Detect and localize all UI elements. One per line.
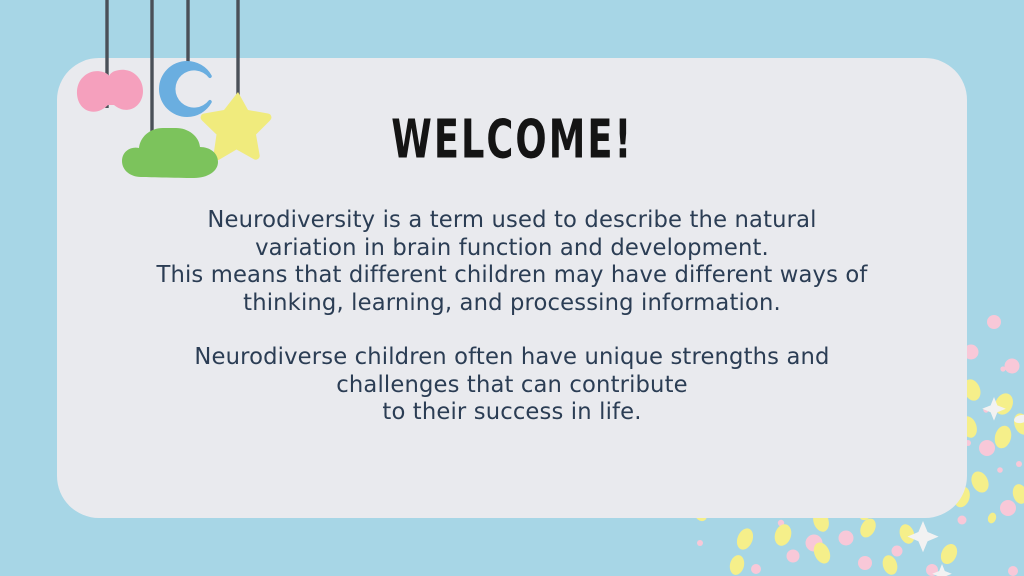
text-line: This means that different children may h… — [97, 261, 927, 289]
heart-icon — [77, 70, 143, 112]
paragraph-2: Neurodiverse children often have unique … — [97, 343, 927, 426]
paragraph-1: Neurodiversity is a term used to describ… — [97, 206, 927, 316]
page-title: WELCOME! — [391, 112, 633, 165]
text-line: challenges that can contribute — [97, 371, 927, 399]
text-line: to their success in life. — [97, 398, 927, 426]
text-line: Neurodiverse children often have unique … — [97, 343, 927, 371]
text-line: variation in brain function and developm… — [97, 234, 927, 262]
hanging-mobile-decoration — [0, 0, 340, 210]
text-line: Neurodiversity is a term used to describ… — [97, 206, 927, 234]
paragraph-spacer — [97, 316, 927, 343]
cloud-icon — [122, 128, 218, 178]
body-text: Neurodiversity is a term used to describ… — [97, 206, 927, 426]
slide-canvas: WELCOME! Neurodiversity is a term used t… — [0, 0, 1024, 576]
text-line: thinking, learning, and processing infor… — [97, 289, 927, 317]
moon-icon — [159, 61, 212, 117]
